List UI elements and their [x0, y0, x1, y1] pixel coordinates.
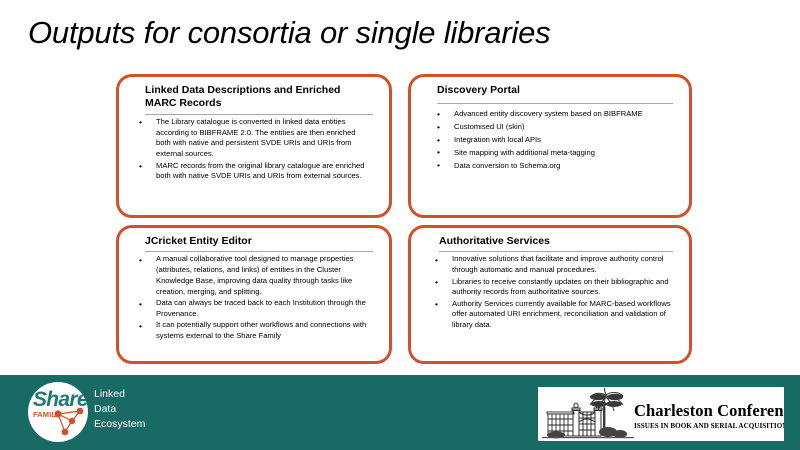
card-heading: Linked Data Descriptions and Enriched MA… [129, 84, 379, 111]
share-family-logo: Share FAMILY [28, 382, 88, 442]
heading-divider [145, 114, 373, 115]
charleston-subtitle: ISSUES IN BOOK AND SERIAL ACQUISITION [634, 423, 784, 430]
charleston-gate-palm-icon [542, 388, 634, 442]
card-inner: Linked Data Descriptions and Enriched MA… [119, 77, 389, 215]
footer-tagline: Linked Data Ecosystem [94, 387, 145, 432]
list-item: Authority Services currently available f… [421, 299, 679, 331]
heading-divider [145, 251, 373, 252]
card-bullet-list: Advanced entity discovery system based o… [421, 108, 679, 171]
list-item: Integration with local APIs [421, 134, 679, 146]
share-family-node-graph-icon [52, 408, 88, 440]
list-item: The Library catalogue is converted in li… [129, 117, 379, 160]
list-item: Data conversion to Schema.org [421, 160, 679, 172]
charleston-text-block: Charleston Conference™ ISSUES IN BOOK AN… [634, 403, 784, 430]
list-item: Innovative solutions that facilitate and… [421, 254, 679, 276]
card-linked-data-descriptions: Linked Data Descriptions and Enriched MA… [116, 74, 392, 218]
card-bullet-list: A manual collaborative tool designed to … [129, 254, 379, 341]
card-inner: Authoritative Services Innovative soluti… [411, 228, 689, 361]
list-item: Libraries to receive constantly updates … [421, 277, 679, 299]
charleston-conference-logo: Charleston Conference™ ISSUES IN BOOK AN… [537, 386, 785, 442]
tagline-line-1: Linked [94, 387, 145, 402]
page-title: Outputs for consortia or single librarie… [28, 16, 772, 50]
card-authoritative-services: Authoritative Services Innovative soluti… [408, 225, 692, 364]
heading-divider [437, 103, 673, 104]
list-item: Customised UI (skin) [421, 121, 679, 133]
card-inner: Discovery Portal Advanced entity discove… [411, 77, 689, 215]
list-item: Site mapping with additional meta-taggin… [421, 147, 679, 159]
heading-divider [439, 251, 673, 252]
card-discovery-portal: Discovery Portal Advanced entity discove… [408, 74, 692, 218]
charleston-name-text: Charleston Conference [634, 401, 785, 420]
card-bullet-list: The Library catalogue is converted in li… [129, 117, 379, 182]
slide-canvas: Outputs for consortia or single librarie… [0, 0, 800, 450]
list-item: A manual collaborative tool designed to … [129, 254, 379, 297]
list-item: Advanced entity discovery system based o… [421, 108, 679, 120]
tagline-line-3: Ecosystem [94, 417, 145, 432]
tagline-line-2: Data [94, 402, 145, 417]
list-item: Data can always be traced back to each I… [129, 298, 379, 320]
charleston-name: Charleston Conference™ [634, 403, 784, 420]
list-item: MARC records from the original library c… [129, 161, 379, 183]
card-inner: JCricket Entity Editor A manual collabor… [119, 228, 389, 361]
card-heading: Discovery Portal [421, 84, 679, 97]
card-bullet-list: Innovative solutions that facilitate and… [421, 254, 679, 330]
card-heading: Authoritative Services [421, 235, 679, 248]
share-wordmark: Share [33, 389, 88, 410]
logo-circle: Share FAMILY [28, 382, 88, 442]
list-item: It can potentially support other workflo… [129, 320, 379, 342]
card-heading: JCricket Entity Editor [129, 235, 379, 248]
card-jcricket-entity-editor: JCricket Entity Editor A manual collabor… [116, 225, 392, 364]
